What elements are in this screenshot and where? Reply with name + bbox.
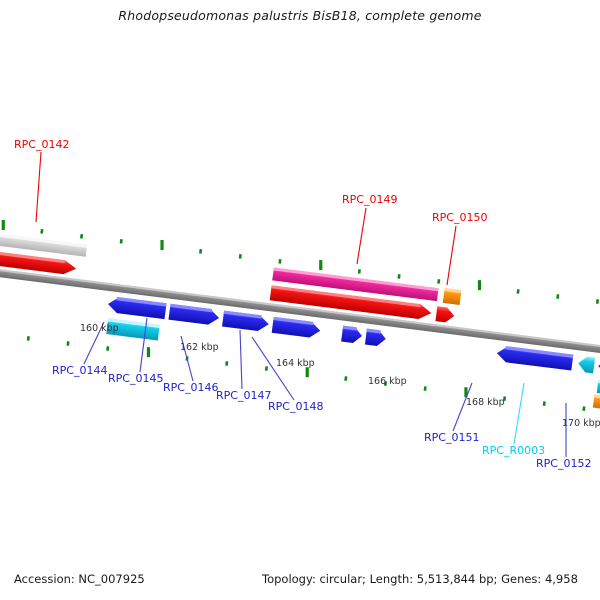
feature-RPC_0145[interactable] <box>168 304 220 326</box>
feature-RPC_0147[interactable] <box>341 326 363 344</box>
leader-line-RPC_R0003 <box>514 383 524 444</box>
genome-map-canvas[interactable]: RPC_0142 RPC_0149 RPC_0150 RPC_0144 RPC_… <box>0 0 600 600</box>
feature-RPC_0143[interactable] <box>0 230 87 257</box>
gene-label-RPC_R0003[interactable]: RPC_R0003 <box>482 444 545 457</box>
feature-RPC_0150-red[interactable] <box>435 306 455 323</box>
gene-label-RPC_0150[interactable]: RPC_0150 <box>432 211 487 224</box>
gene-label-RPC_0146[interactable]: RPC_0146 <box>163 381 218 394</box>
genome-stats-text: Topology: circular; Length: 5,513,844 bp… <box>262 572 578 586</box>
leader-line-RPC_0150 <box>447 226 456 285</box>
feature-RPC_0151[interactable] <box>496 345 573 370</box>
gene-label-RPC_0149[interactable]: RPC_0149 <box>342 193 397 206</box>
scale-label-168: 168 kbp <box>466 397 505 408</box>
genome-map-view: Rhodopseudomonas palustris BisB18, compl… <box>0 0 600 600</box>
scale-label-160: 160 kbp <box>80 323 119 334</box>
leader-line-RPC_0147 <box>240 330 242 389</box>
gene-label-RPC_0148[interactable]: RPC_0148 <box>268 400 323 413</box>
gene-label-RPC_0145[interactable]: RPC_0145 <box>108 372 163 385</box>
accession-text: Accession: NC_007925 <box>14 572 145 586</box>
scale-label-164: 164 kbp <box>276 358 315 369</box>
feature-RPC_R0003[interactable] <box>577 355 595 373</box>
feature-RPC_0150-orange[interactable] <box>443 288 462 305</box>
gene-label-RPC_0147[interactable]: RPC_0147 <box>216 389 271 402</box>
gene-label-RPC_0142[interactable]: RPC_0142 <box>14 138 69 151</box>
leader-line-RPC_0149 <box>357 208 366 264</box>
feature-RPC_0146b[interactable] <box>272 317 322 339</box>
scale-label-166: 166 kbp <box>368 376 407 387</box>
leader-line-RPC_0142 <box>36 152 41 222</box>
feature-RPC_0148[interactable] <box>365 329 387 347</box>
feature-RPC_0152-orange[interactable] <box>593 395 600 419</box>
gene-label-RPC_0144[interactable]: RPC_0144 <box>52 364 107 377</box>
gene-label-RPC_0152[interactable]: RPC_0152 <box>536 457 591 470</box>
feature-RPC_0144[interactable] <box>107 296 167 319</box>
scale-label-170: 170 kbp <box>562 418 600 429</box>
scale-label-162: 162 kbp <box>180 342 219 353</box>
gene-label-RPC_0151[interactable]: RPC_0151 <box>424 431 479 444</box>
feature-RPC_0146[interactable] <box>222 311 270 333</box>
